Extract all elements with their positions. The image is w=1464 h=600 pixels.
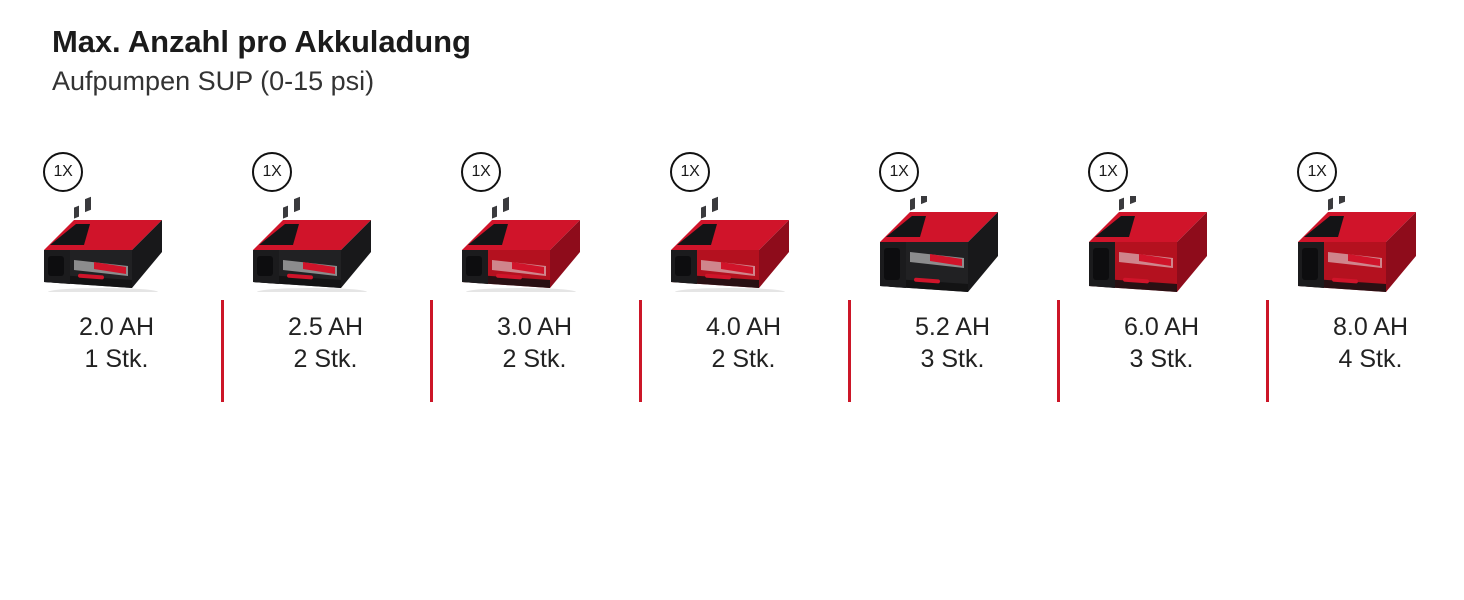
- battery-capacity: 2.5 AH: [221, 311, 430, 343]
- battery-pack-6ah-icon: [1071, 196, 1251, 292]
- battery-quantity: 2 Stk.: [639, 343, 848, 375]
- page-subtitle: Aufpumpen SUP (0-15 psi): [52, 65, 471, 97]
- battery-capacity: 8.0 AH: [1266, 311, 1464, 343]
- quantity-badge: 1X: [670, 152, 710, 192]
- battery-capacity: 6.0 AH: [1057, 311, 1266, 343]
- battery-item: 1X3.0 AH2 Stk.: [430, 148, 639, 408]
- battery-pack-3ah-icon: [444, 196, 624, 292]
- page-title: Max. Anzahl pro Akkuladung: [52, 24, 471, 61]
- battery-labels: 2.5 AH2 Stk.: [221, 311, 430, 375]
- battery-quantity: 1 Stk.: [12, 343, 221, 375]
- battery-labels: 8.0 AH4 Stk.: [1266, 311, 1464, 375]
- battery-pack-4ah-icon: [653, 196, 833, 292]
- battery-pack-2ah-icon: [26, 196, 206, 292]
- battery-capacity: 5.2 AH: [848, 311, 1057, 343]
- quantity-badge: 1X: [252, 152, 292, 192]
- battery-capacity: 3.0 AH: [430, 311, 639, 343]
- battery-item: 1X4.0 AH2 Stk.: [639, 148, 848, 408]
- quantity-badge: 1X: [1297, 152, 1337, 192]
- battery-list: 1X2.0 AH1 Stk.1X2.5 AH2 Stk.1X3.0 AH2 St…: [0, 148, 1464, 408]
- battery-item: 1X6.0 AH3 Stk.: [1057, 148, 1266, 408]
- quantity-badge: 1X: [461, 152, 501, 192]
- battery-quantity: 2 Stk.: [430, 343, 639, 375]
- battery-quantity: 3 Stk.: [848, 343, 1057, 375]
- quantity-badge: 1X: [43, 152, 83, 192]
- battery-pack-8ah-icon: [1280, 196, 1460, 292]
- battery-labels: 6.0 AH3 Stk.: [1057, 311, 1266, 375]
- battery-labels: 5.2 AH3 Stk.: [848, 311, 1057, 375]
- battery-labels: 2.0 AH1 Stk.: [12, 311, 221, 375]
- quantity-badge: 1X: [879, 152, 919, 192]
- header-block: Max. Anzahl pro Akkuladung Aufpumpen SUP…: [52, 24, 471, 97]
- battery-quantity: 3 Stk.: [1057, 343, 1266, 375]
- battery-capacity: 2.0 AH: [12, 311, 221, 343]
- battery-item: 1X2.5 AH2 Stk.: [221, 148, 430, 408]
- battery-capacity: 4.0 AH: [639, 311, 848, 343]
- battery-item: 1X8.0 AH4 Stk.: [1266, 148, 1464, 408]
- battery-pack-2-5ah-icon: [235, 196, 415, 292]
- battery-labels: 4.0 AH2 Stk.: [639, 311, 848, 375]
- battery-pack-5-2ah-icon: [862, 196, 1042, 292]
- battery-quantity: 2 Stk.: [221, 343, 430, 375]
- battery-quantity: 4 Stk.: [1266, 343, 1464, 375]
- battery-labels: 3.0 AH2 Stk.: [430, 311, 639, 375]
- battery-item: 1X5.2 AH3 Stk.: [848, 148, 1057, 408]
- battery-item: 1X2.0 AH1 Stk.: [12, 148, 221, 408]
- quantity-badge: 1X: [1088, 152, 1128, 192]
